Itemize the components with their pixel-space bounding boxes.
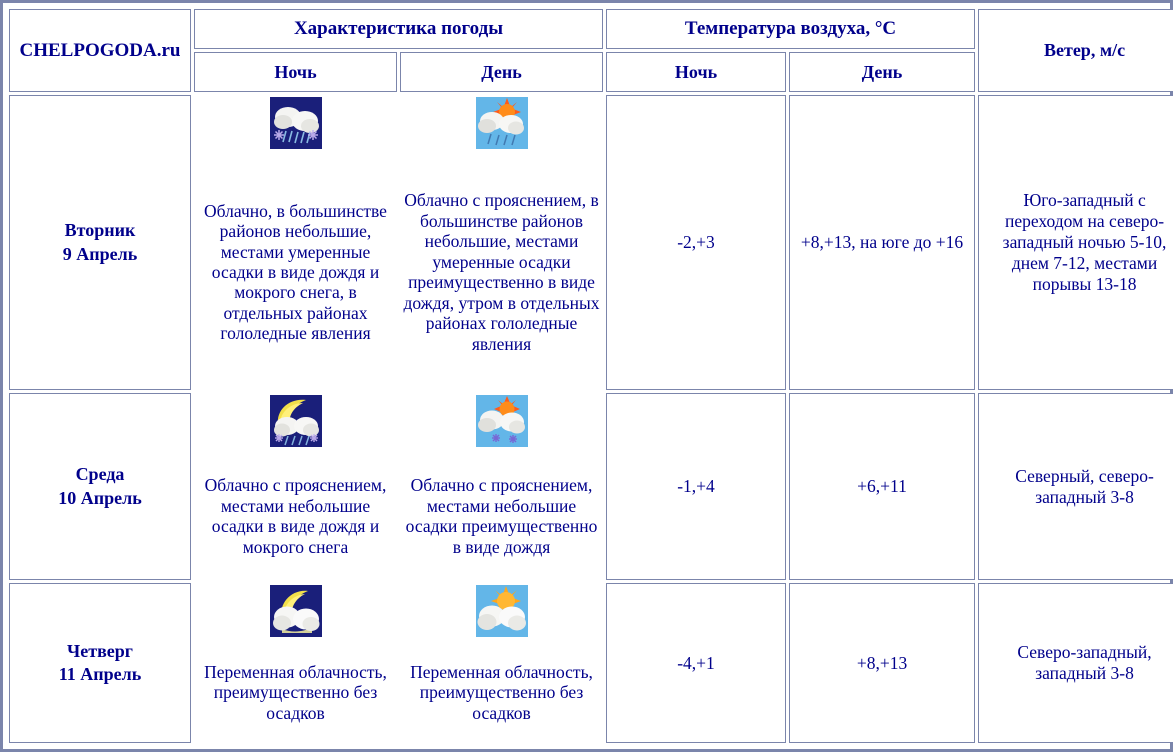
forecast-row: Вторник 9 Апрель (9, 95, 1173, 390)
wind-value: Северо-западный, западный 3-8 (978, 583, 1173, 743)
sun-cloud-rain-icon (476, 97, 528, 149)
header-weather-night: Ночь (194, 52, 397, 92)
night-description: Переменная облачность, преимущественно б… (194, 642, 397, 743)
day-description: Переменная облачность, преимущественно б… (400, 642, 603, 743)
header-wind: Ветер, м/с (978, 9, 1173, 92)
header-temp-day: День (789, 52, 975, 92)
night-description: Облачно, в большинстве районов небольшие… (194, 154, 397, 390)
day-description: Облачно с прояснением, в большинстве рай… (400, 154, 603, 390)
day-icon-cell (400, 583, 603, 639)
moon-cloud-icon (270, 585, 322, 637)
brand-logo[interactable]: CHELPOGODA.ru (9, 9, 191, 92)
forecast-row: Четверг 11 Апрель (9, 583, 1173, 743)
day-description: Облачно с прояснением, местами небольшие… (400, 452, 603, 580)
temp-day-value: +8,+13 (789, 583, 975, 743)
forecast-weekday: Среда (14, 463, 186, 486)
header-temp-night: Ночь (606, 52, 786, 92)
sun-cloud-rain-icon (476, 395, 528, 447)
forecast-weekday: Четверг (14, 640, 186, 663)
forecast-date: 9 Апрель (14, 243, 186, 266)
cloudy-rain-snow-night-icon (270, 97, 322, 149)
night-weather-cell: Облачно с прояснением, местами небольшие… (194, 393, 397, 580)
forecast-date-cell: Четверг 11 Апрель (9, 583, 191, 743)
forecast-date-cell: Вторник 9 Апрель (9, 95, 191, 390)
temp-day-value: +6,+11 (789, 393, 975, 580)
header-air-temperature: Температура воздуха, °C (606, 9, 975, 49)
night-description: Облачно с прояснением, местами небольшие… (194, 452, 397, 580)
day-weather-cell: Облачно с прояснением, в большинстве рай… (400, 95, 603, 390)
header-weather-characteristics: Характеристика погоды (194, 9, 603, 49)
forecast-weekday: Вторник (14, 219, 186, 242)
forecast-row: Среда 10 Апрель (9, 393, 1173, 580)
moon-cloud-rain-icon (270, 395, 322, 447)
weather-forecast-frame: CHELPOGODA.ru Характеристика погоды Темп… (0, 0, 1173, 752)
day-weather-cell: Переменная облачность, преимущественно б… (400, 583, 603, 743)
temp-day-value: +8,+13, на юге до +16 (789, 95, 975, 390)
day-icon-cell (400, 393, 603, 449)
forecast-date-cell: Среда 10 Апрель (9, 393, 191, 580)
night-icon-cell (194, 583, 397, 639)
night-weather-cell: Переменная облачность, преимущественно б… (194, 583, 397, 743)
day-weather-cell: Облачно с прояснением, местами небольшие… (400, 393, 603, 580)
weather-forecast-table: CHELPOGODA.ru Характеристика погоды Темп… (6, 6, 1173, 746)
night-weather-cell: Облачно, в большинстве районов небольшие… (194, 95, 397, 390)
night-icon-cell (194, 393, 397, 449)
wind-value: Северный, северо-западный 3-8 (978, 393, 1173, 580)
header-row-groups: CHELPOGODA.ru Характеристика погоды Темп… (9, 9, 1173, 49)
night-icon-cell (194, 95, 397, 151)
temp-night-value: -4,+1 (606, 583, 786, 743)
day-icon-cell (400, 95, 603, 151)
wind-value: Юго-западный с переходом на северо-запад… (978, 95, 1173, 390)
header-weather-day: День (400, 52, 603, 92)
temp-night-value: -1,+4 (606, 393, 786, 580)
forecast-date: 11 Апрель (14, 663, 186, 686)
temp-night-value: -2,+3 (606, 95, 786, 390)
forecast-date: 10 Апрель (14, 487, 186, 510)
sun-cloud-icon (476, 585, 528, 637)
